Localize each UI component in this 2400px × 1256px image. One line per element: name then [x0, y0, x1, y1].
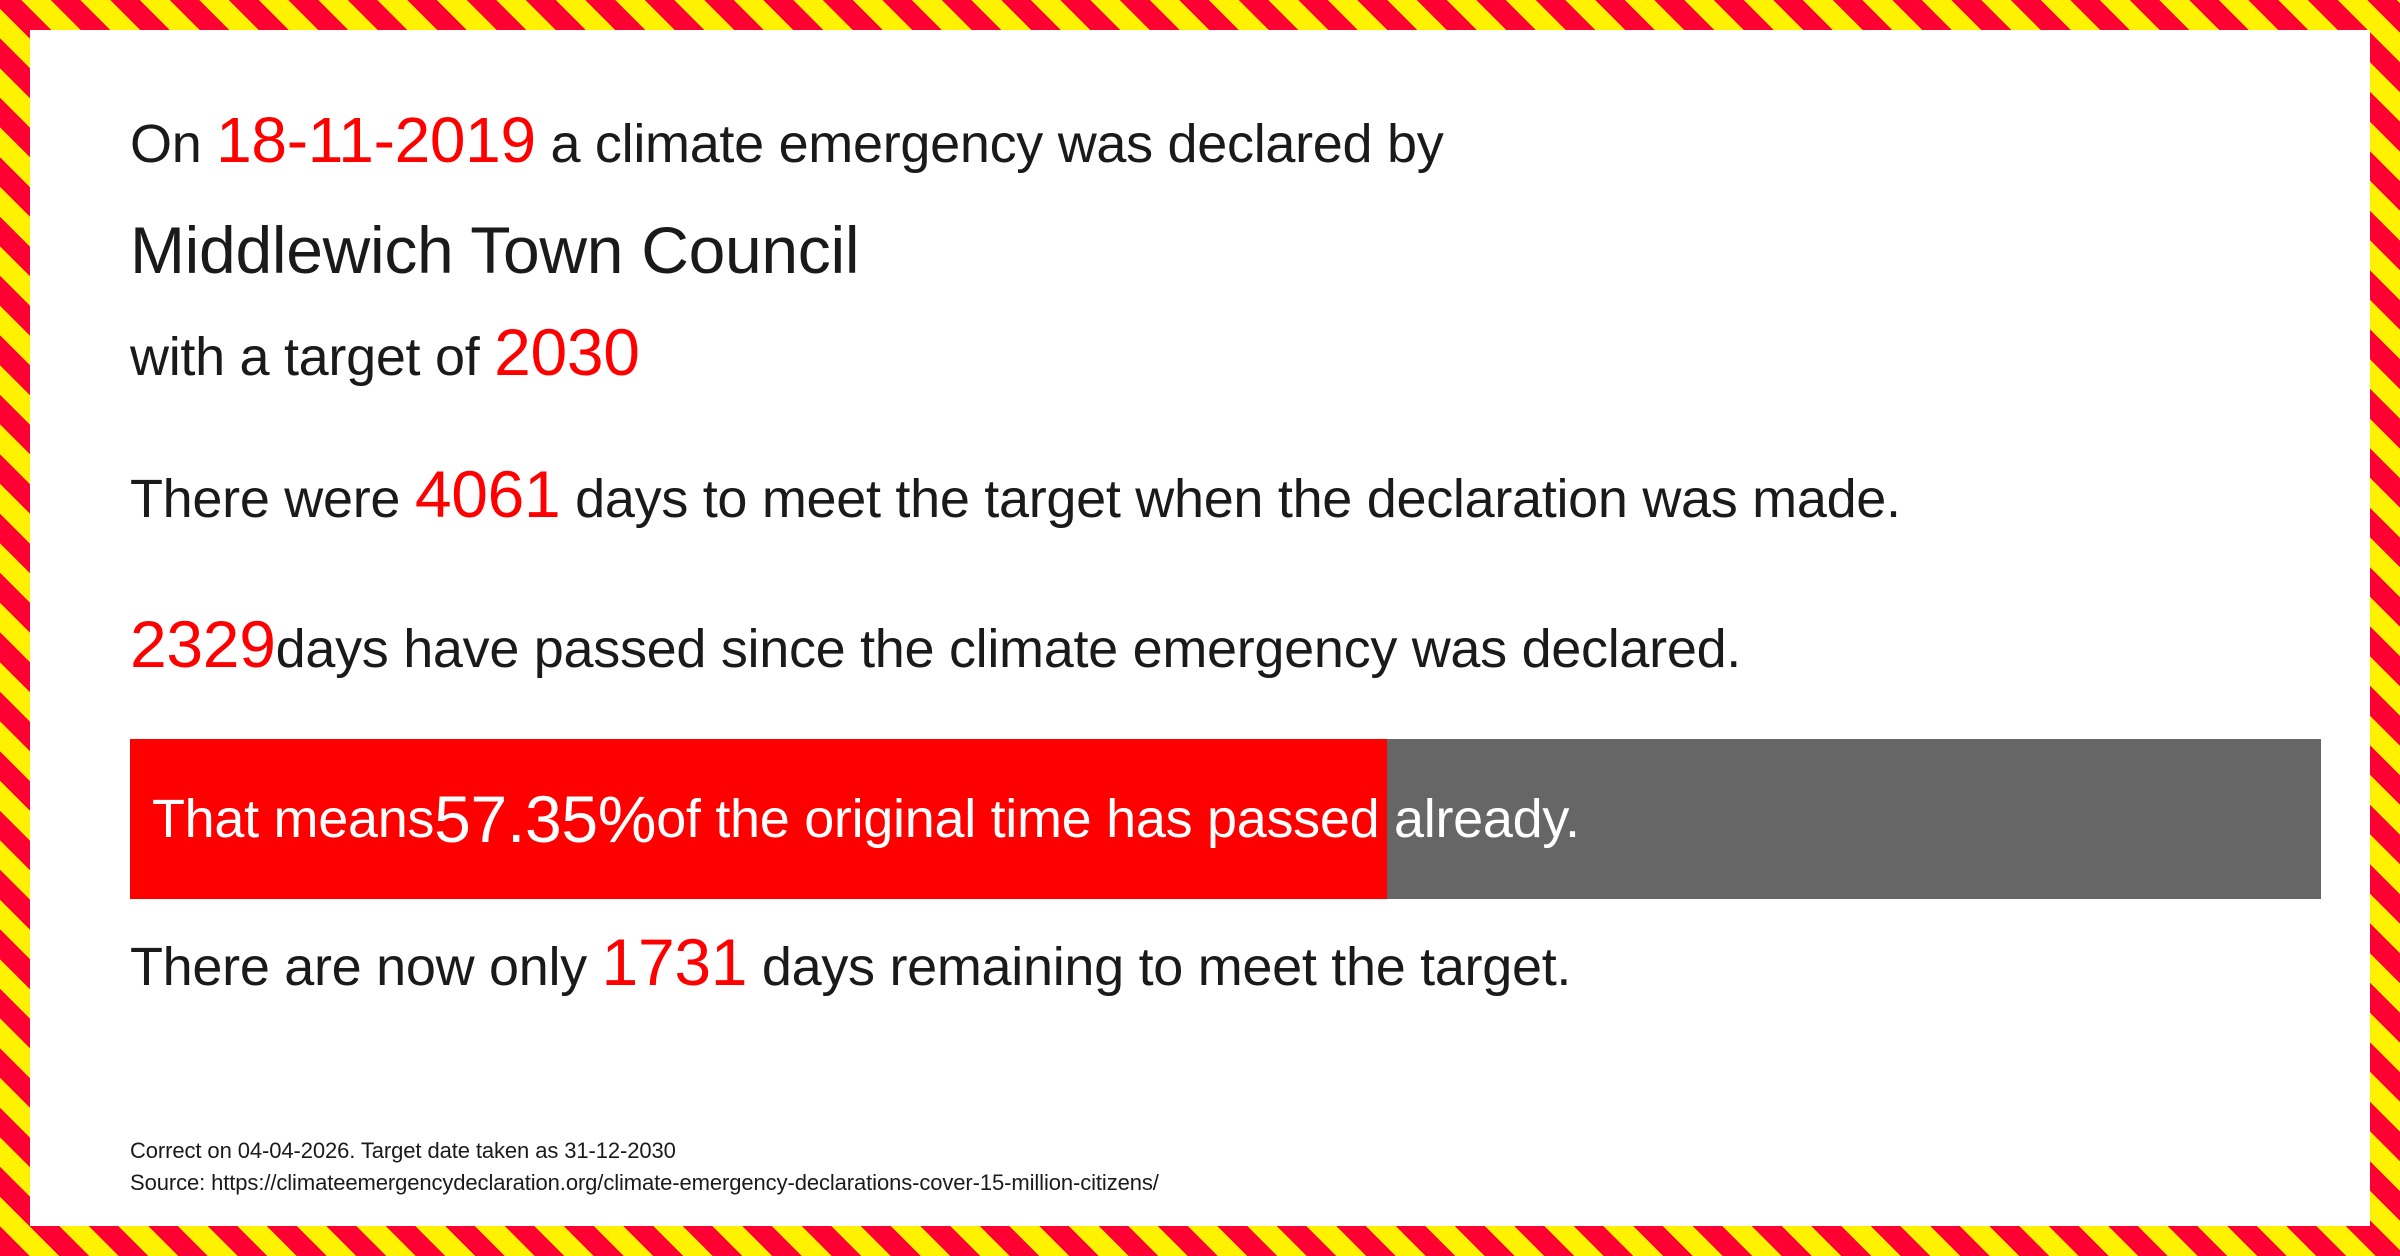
progress-bar-label: That means 57.35% of the original time h… — [152, 739, 1580, 899]
days-passed-suffix-text: days have passed since the climate emerg… — [276, 619, 1741, 679]
time-elapsed-progress-bar: That means 57.35% of the original time h… — [130, 739, 2321, 899]
footnote-source-url: Source: https://climateemergencydeclarat… — [130, 1168, 1159, 1198]
poster-content-area: On 18-11-2019 a climate emergency was de… — [30, 30, 2370, 1226]
days-available-suffix-text: days to meet the target when the declara… — [560, 469, 1900, 529]
target-year-value: 2030 — [494, 315, 640, 389]
declaration-prefix-text: On — [130, 114, 216, 174]
days-remaining-line: There are now only 1731 days remaining t… — [130, 930, 1571, 999]
days-remaining-suffix-text: days remaining to meet the target. — [747, 937, 1571, 997]
declaration-date-value: 18-11-2019 — [216, 104, 536, 176]
days-passed-line: 2329days have passed since the climate e… — [130, 612, 1741, 681]
days-remaining-prefix-text: There are now only — [130, 937, 602, 997]
declaration-suffix-text: a climate emergency was declared by — [536, 114, 1444, 174]
days-available-value: 4061 — [415, 457, 561, 531]
hazard-border-poster: On 18-11-2019 a climate emergency was de… — [0, 0, 2400, 1256]
days-passed-value: 2329 — [130, 607, 276, 681]
days-available-line: There were 4061 days to meet the target … — [130, 462, 1901, 531]
progress-label-suffix-text: of the original time has passed already. — [656, 788, 1580, 850]
progress-percent-value: 57.35% — [434, 781, 656, 857]
days-remaining-value: 1731 — [602, 925, 748, 999]
days-available-prefix-text: There were — [130, 469, 415, 529]
progress-label-prefix-text: That means — [152, 788, 434, 850]
footnote-correct-on: Correct on 04-04-2026. Target date taken… — [130, 1136, 676, 1166]
target-prefix-text: with a target of — [130, 327, 494, 387]
target-year-line: with a target of 2030 — [130, 320, 640, 389]
declaring-authority-name: Middlewich Town Council — [130, 212, 859, 288]
declaration-date-line: On 18-11-2019 a climate emergency was de… — [130, 108, 1443, 176]
